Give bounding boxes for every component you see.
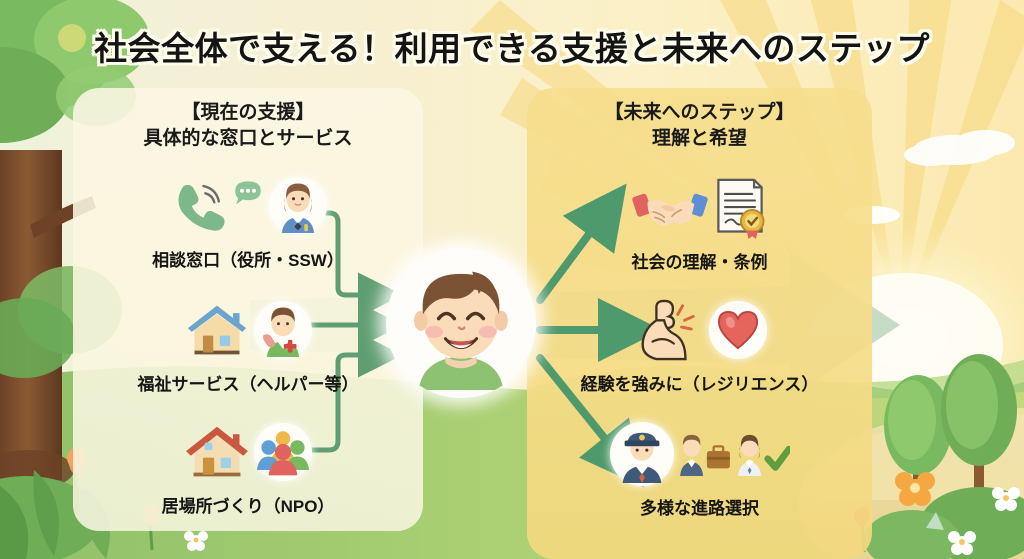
police-officer-icon: [613, 425, 671, 483]
house-icon: [184, 300, 250, 360]
infographic-canvas: 社会全体で支える！利用できる支援と未来へのステップ 【現在の支援】 具体的な窓口…: [0, 0, 1024, 559]
handshake-icon: [632, 178, 708, 238]
resilience-icons: [527, 292, 872, 368]
counselor-woman-icon: [271, 179, 325, 233]
support-item-place[interactable]: 居場所づくり（NPO）: [73, 414, 423, 517]
understanding-icons: [527, 170, 872, 246]
flexed-bicep-icon: [633, 299, 705, 361]
consultation-icons: [73, 168, 423, 244]
helper-worker-icon: [256, 303, 310, 357]
heart-icon: [717, 310, 759, 350]
career-caption: 多様な進路選択: [527, 494, 872, 519]
worker-check-icon: [736, 432, 790, 476]
right-heading-line2: 理解と希望: [527, 126, 872, 152]
right-column-heading: 【未来へのステップ】 理解と希望: [527, 100, 872, 151]
understanding-caption: 社会の理解・条例: [527, 248, 872, 273]
left-column-heading: 【現在の支援】 具体的な窓口とサービス: [73, 100, 423, 151]
helper-worker-badge: [254, 301, 312, 359]
telephone-icon: [169, 177, 227, 235]
welfare-caption: 福祉サービス（ヘルパー等）: [73, 370, 423, 395]
people-group-badge: [254, 423, 312, 481]
step-item-career[interactable]: 多様な進路選択: [527, 416, 872, 519]
page-title: 社会全体で支える！利用できる支援と未来へのステップ: [0, 22, 1024, 70]
place-icons: [73, 414, 423, 490]
right-heading-line1: 【未来へのステップ】: [527, 100, 872, 126]
place-caption: 居場所づくり（NPO）: [73, 492, 423, 517]
consultation-caption: 相談窓口（役所・SSW）: [73, 246, 423, 271]
people-group-icon: [256, 425, 310, 479]
central-child-figure: [386, 248, 536, 398]
left-heading-line1: 【現在の支援】: [73, 100, 423, 126]
certificate-document-icon: [712, 177, 768, 239]
counselor-woman-badge: [269, 177, 327, 235]
step-item-understanding[interactable]: 社会の理解・条例: [527, 170, 872, 273]
resilience-caption: 経験を強みに（レジリエンス）: [527, 370, 872, 395]
welfare-icons: [73, 292, 423, 368]
support-item-welfare[interactable]: 福祉サービス（ヘルパー等）: [73, 292, 423, 395]
speech-bubble-icon: [231, 178, 265, 212]
heart-badge: [709, 301, 767, 359]
support-item-consultation[interactable]: 相談窓口（役所・SSW）: [73, 168, 423, 271]
businessman-briefcase-icon: [678, 432, 732, 476]
left-heading-line2: 具体的な窓口とサービス: [73, 126, 423, 152]
smiling-boy-icon: [394, 256, 528, 390]
police-officer-badge: [610, 422, 674, 486]
career-icons: [527, 416, 872, 492]
step-item-resilience[interactable]: 経験を強みに（レジリエンス）: [527, 292, 872, 395]
home-icon: [184, 422, 250, 482]
